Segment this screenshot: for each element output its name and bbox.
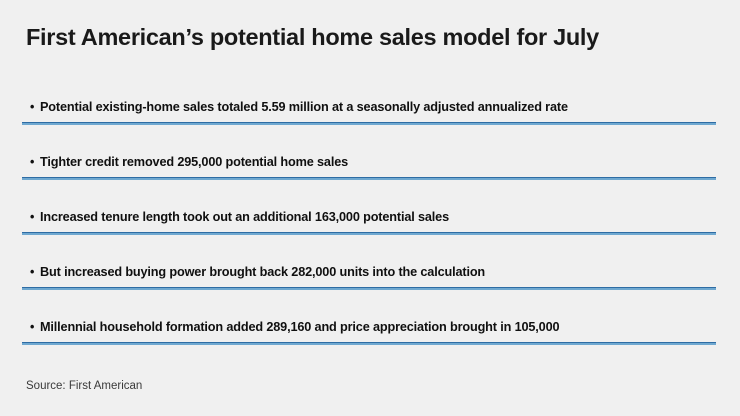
source-caption: Source: First American — [26, 379, 142, 394]
slide-canvas: First American’s potential home sales mo… — [0, 0, 740, 416]
bullet-text: Millennial household formation added 289… — [40, 319, 559, 335]
divider-rule — [22, 122, 716, 125]
bullet-dot-icon: • — [30, 319, 40, 335]
bullet-line: • Increased tenure length took out an ad… — [22, 209, 716, 225]
divider-rule — [22, 232, 716, 235]
list-item: • Millennial household formation added 2… — [22, 306, 716, 361]
bullet-line: • Millennial household formation added 2… — [22, 319, 716, 335]
bullet-dot-icon: • — [30, 154, 40, 170]
list-item: • But increased buying power brought bac… — [22, 251, 716, 306]
list-item: • Increased tenure length took out an ad… — [22, 196, 716, 251]
bullet-dot-icon: • — [30, 209, 40, 225]
bullet-list: • Potential existing-home sales totaled … — [22, 86, 716, 361]
bullet-dot-icon: • — [30, 99, 40, 115]
bullet-text: Potential existing-home sales totaled 5.… — [40, 99, 568, 115]
bullet-line: • Potential existing-home sales totaled … — [22, 99, 716, 115]
bullet-text: Increased tenure length took out an addi… — [40, 209, 449, 225]
list-item: • Tighter credit removed 295,000 potenti… — [22, 141, 716, 196]
bullet-text: Tighter credit removed 295,000 potential… — [40, 154, 348, 170]
list-item: • Potential existing-home sales totaled … — [22, 86, 716, 141]
bullet-line: • But increased buying power brought bac… — [22, 264, 716, 280]
divider-rule — [22, 177, 716, 180]
bullet-dot-icon: • — [30, 264, 40, 280]
bullet-line: • Tighter credit removed 295,000 potenti… — [22, 154, 716, 170]
bullet-text: But increased buying power brought back … — [40, 264, 485, 280]
divider-rule — [22, 342, 716, 345]
page-title: First American’s potential home sales mo… — [26, 22, 726, 52]
divider-rule — [22, 287, 716, 290]
